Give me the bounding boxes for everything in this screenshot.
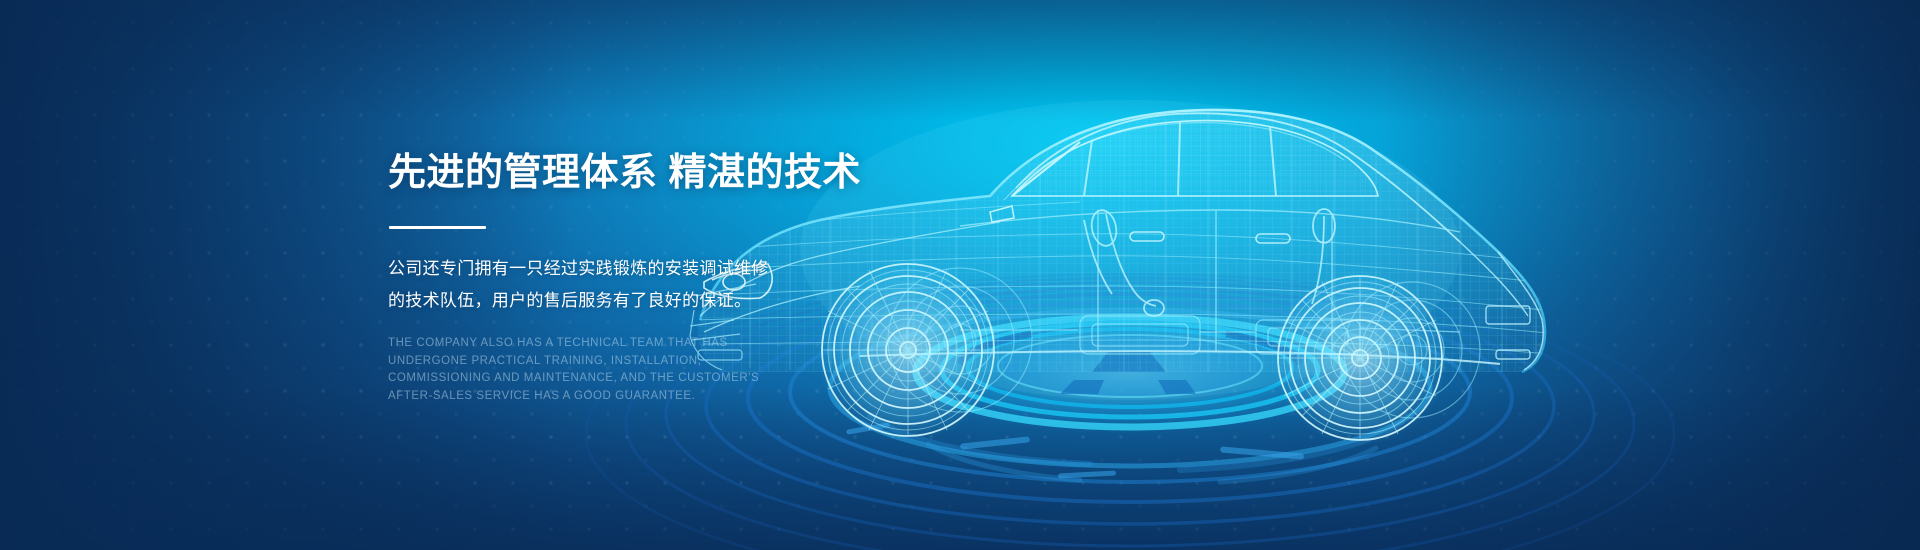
hero-banner: 先进的管理体系 精湛的技术 公司还专门拥有一只经过实践锻炼的安装调试维修 的技术… xyxy=(0,0,1920,550)
hero-description-line-1: 公司还专门拥有一只经过实践锻炼的安装调试维修 xyxy=(388,259,769,278)
page-title: 先进的管理体系 精湛的技术 xyxy=(388,150,858,196)
hero-copy: 先进的管理体系 精湛的技术 公司还专门拥有一只经过实践锻炼的安装调试维修 的技术… xyxy=(388,150,858,405)
hero-description-line-2: 的技术队伍，用户的售后服务有了良好的保证。 xyxy=(388,291,751,310)
title-divider xyxy=(389,226,486,229)
hero-description: 公司还专门拥有一只经过实践锻炼的安装调试维修 的技术队伍，用户的售后服务有了良好… xyxy=(388,253,858,317)
hero-subtext-english: THE COMPANY ALSO HAS A TECHNICAL TEAM TH… xyxy=(388,335,760,405)
